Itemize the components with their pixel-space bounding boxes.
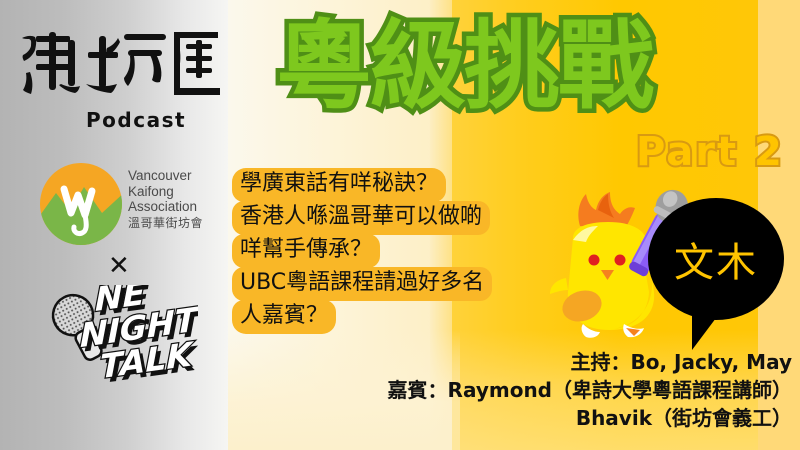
brand-title-gaifongwui: [16, 22, 221, 102]
collab-cross-icon: ✕: [108, 253, 130, 279]
vancouver-kaifong-logo: [40, 163, 122, 245]
vka-name-line1: Vancouver: [128, 168, 192, 183]
brand-subtitle-podcast: Podcast: [86, 108, 186, 132]
question-line: 香港人喺溫哥華可以做啲: [232, 201, 490, 235]
question-line: 學廣東話有咩秘訣？: [232, 168, 446, 202]
credit-host-line: 主持：Bo, Jacky, May: [132, 348, 792, 376]
vka-name-line2: Kaifong: [128, 184, 174, 199]
credit-guest-line: Bhavik（街坊會義工）: [132, 404, 792, 432]
vka-name-line3: Association: [128, 199, 197, 214]
question-line: 咩幫手傳承？: [232, 234, 380, 268]
vka-name-chinese: 溫哥華街坊會: [128, 216, 232, 232]
question-line: 人嘉賓？: [232, 300, 336, 334]
episode-part-label: Part 2: [636, 130, 784, 174]
vancouver-kaifong-name: Vancouver Kaifong Association 溫哥華街坊會: [128, 168, 232, 231]
poster-canvas: Podcast Vancouver Kaifong Association 溫哥…: [0, 0, 800, 450]
credit-guest-line: 嘉賓：Raymond（卑詩大學粵語課程講師）: [132, 376, 792, 404]
page-title: 粵級挑戰: [276, 14, 652, 118]
question-block: 學廣東話有咩秘訣？ 香港人喺溫哥華可以做啲 咩幫手傳承？ UBC粵語課程請過好多…: [232, 168, 562, 333]
question-line: UBC粵語課程請過好多名: [232, 267, 492, 301]
speech-bubble: [648, 198, 798, 358]
credits-block: 主持：Bo, Jacky, May 嘉賓：Raymond（卑詩大學粵語課程講師）…: [132, 348, 792, 432]
